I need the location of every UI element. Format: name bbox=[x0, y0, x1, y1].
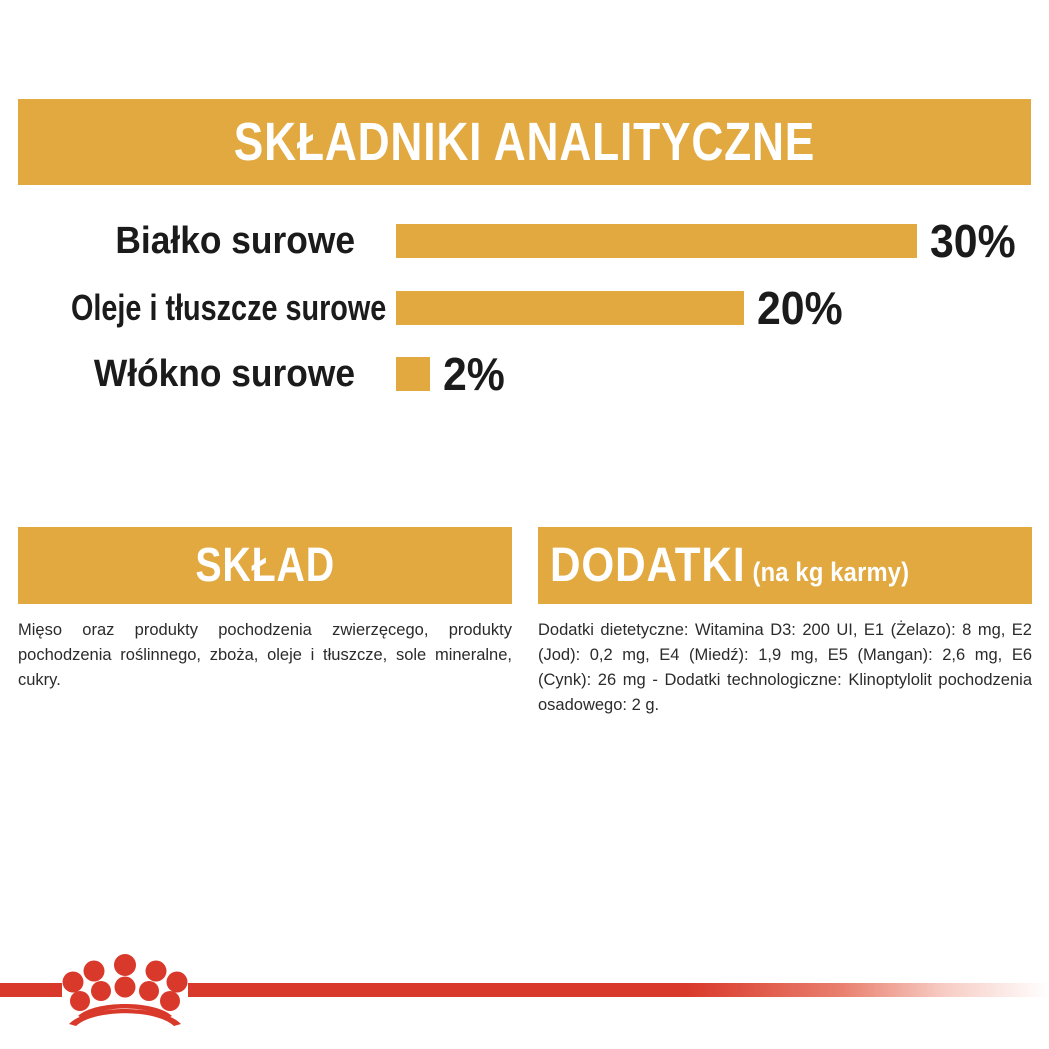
chart-row: Włókno surowe 2% bbox=[0, 345, 1049, 403]
bar-fill bbox=[396, 291, 744, 325]
bar-value-label: 2% bbox=[443, 351, 505, 397]
bar-fill bbox=[396, 224, 917, 258]
bar-category-label: Białko surowe bbox=[25, 221, 355, 261]
analytical-constituents-banner: SKŁADNIKI ANALITYCZNE bbox=[18, 99, 1031, 185]
bar-fill bbox=[396, 357, 430, 391]
bar-track: 30% bbox=[396, 218, 1022, 264]
bar-value-label: 20% bbox=[757, 285, 843, 331]
composition-text: Mięso oraz produkty pochodzenia zwierzęc… bbox=[18, 618, 512, 693]
additives-banner: DODATKI (na kg karmy) bbox=[538, 527, 1032, 604]
chart-row: Oleje i tłuszcze surowe 20% bbox=[0, 279, 1049, 337]
bar-track: 20% bbox=[396, 285, 849, 331]
additives-subtitle: (na kg karmy) bbox=[752, 557, 909, 588]
chart-row: Białko surowe 30% bbox=[0, 212, 1049, 270]
bar-value-label: 30% bbox=[930, 218, 1016, 264]
footer-stripe-right bbox=[188, 983, 1049, 997]
bar-category-label: Oleje i tłuszcze surowe bbox=[71, 288, 355, 328]
brand-footer bbox=[0, 930, 1049, 1049]
nutrient-bar-chart: Białko surowe 30% Oleje i tłuszcze surow… bbox=[0, 207, 1049, 402]
additives-title: DODATKI bbox=[550, 538, 745, 593]
royal-canin-crown-icon bbox=[62, 954, 188, 1026]
composition-title: SKŁAD bbox=[195, 538, 335, 593]
footer-stripe-left bbox=[0, 983, 62, 997]
composition-banner: SKŁAD bbox=[18, 527, 512, 604]
additives-text: Dodatki dietetyczne: Witamina D3: 200 UI… bbox=[538, 618, 1032, 718]
bar-track: 2% bbox=[396, 351, 509, 397]
bar-category-label: Włókno surowe bbox=[25, 354, 355, 394]
analytical-constituents-title: SKŁADNIKI ANALITYCZNE bbox=[234, 111, 815, 173]
additives-heading: DODATKI (na kg karmy) bbox=[550, 538, 909, 593]
